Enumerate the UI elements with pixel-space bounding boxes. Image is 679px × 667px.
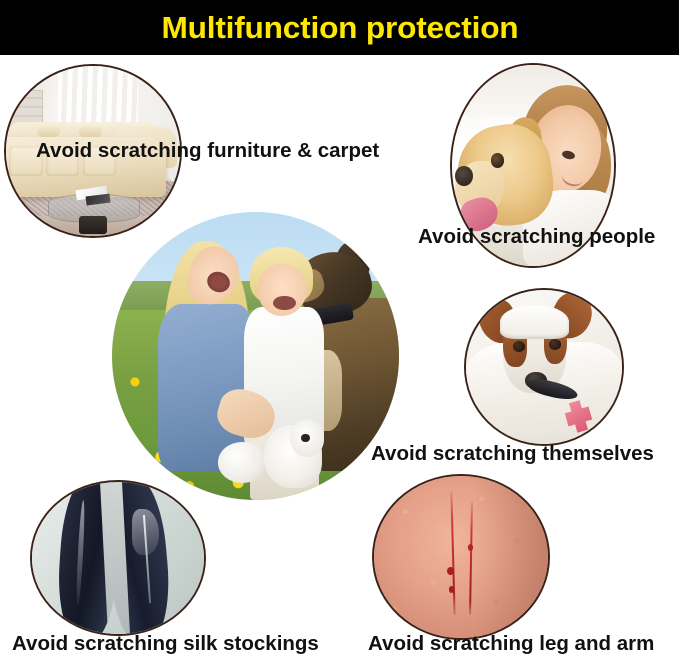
terrier-eye-right xyxy=(549,339,561,350)
skin-shadow xyxy=(475,476,548,638)
caption-skin: Avoid scratching leg and arm xyxy=(368,634,654,655)
terrier-eye-left xyxy=(513,341,525,352)
dog-nose xyxy=(455,166,473,186)
caption-themselves: Avoid scratching themselves xyxy=(371,444,654,465)
page-title: Multifunction protection xyxy=(161,12,518,43)
photo-stockings xyxy=(30,480,206,636)
dog-eye xyxy=(491,153,504,167)
photo-family xyxy=(112,212,399,500)
blood-spot xyxy=(447,567,454,575)
blood-spot xyxy=(468,544,473,550)
boy-mouth xyxy=(273,296,296,310)
blood-spot xyxy=(449,586,454,592)
photo-themselves xyxy=(464,288,624,446)
white-ball xyxy=(218,442,267,482)
head-bandage xyxy=(500,305,569,339)
title-banner: Multifunction protection xyxy=(0,0,679,55)
caption-stockings: Avoid scratching silk stockings xyxy=(12,634,319,655)
sofa-headrest xyxy=(79,126,102,138)
infographic-page: Multifunction protection Avoid scratchin… xyxy=(0,0,679,667)
sofa-headrest xyxy=(37,126,60,138)
caption-people: Avoid scratching people xyxy=(418,227,655,248)
caption-furniture: Avoid scratching furniture & carpet xyxy=(36,141,379,162)
photo-skin xyxy=(372,474,550,640)
table-base xyxy=(79,216,107,235)
